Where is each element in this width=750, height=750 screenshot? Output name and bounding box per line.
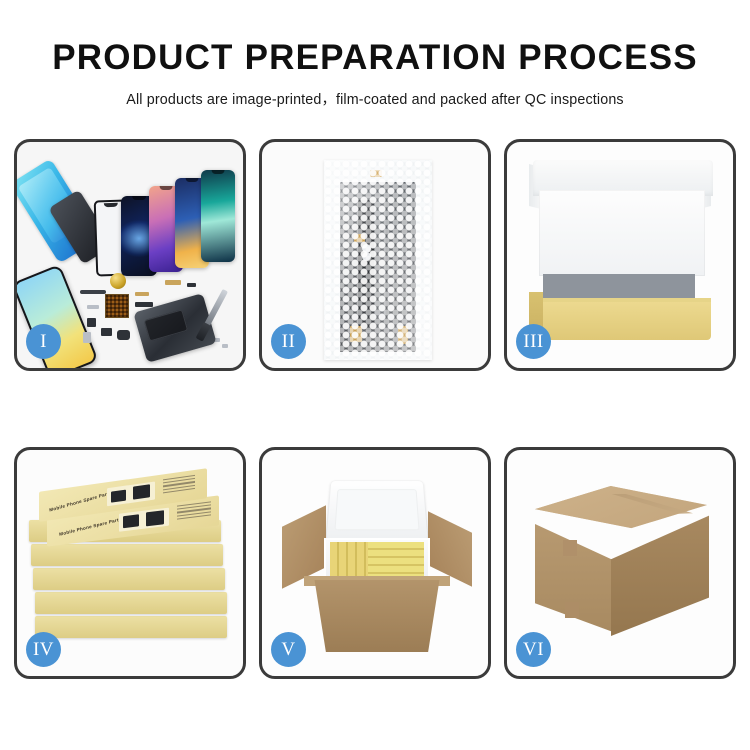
process-step-2: II [259,139,491,371]
spare-parts-icon [135,292,149,296]
page-title: PRODUCT PREPARATION PROCESS [0,40,750,77]
process-step-3: III [504,139,736,371]
process-step-grid: I II [14,139,736,679]
phone-screen-icon [201,170,235,262]
stacked-boxes-icon [35,616,227,638]
spare-parts-icon [80,290,106,294]
step-badge: IV [26,632,61,667]
step-badge: VI [516,632,551,667]
label-artwork [107,482,155,507]
header: PRODUCT PREPARATION PROCESS All products… [0,0,750,109]
label-spec-lines [163,475,195,495]
plastic-sheen [324,160,432,360]
spare-parts-icon [87,318,96,327]
spare-parts-icon [110,273,126,289]
process-step-5: V [259,447,491,679]
screwdriver-icon [204,289,228,327]
carton-open-icon [306,580,448,652]
label-spec-lines [177,501,211,521]
phone-thumbnail-icon [133,484,150,499]
page-subtitle: All products are image-printed，film-coat… [0,88,750,109]
process-step-4: Mobile Phone Spare Parts Mobile Phone Sp… [14,447,246,679]
box-label-text: Mobile Phone Spare Parts [49,490,112,512]
carton-side-right [611,508,709,636]
step-badge: I [26,324,61,359]
product-preparation-infographic: PRODUCT PREPARATION PROCESS All products… [0,0,750,750]
spare-parts-icon [165,280,181,285]
label-artwork [119,508,169,532]
spare-parts-icon [105,294,129,318]
foam-box-lid-icon [325,480,429,541]
phone-thumbnail-icon [111,490,126,503]
step-badge: II [271,324,306,359]
phone-thumbnail-icon [123,514,139,528]
phone-thumbnail-icon [146,510,164,526]
inner-boxes-icon [330,542,424,580]
spare-parts-icon [187,283,196,287]
bubble-wrap-icon [324,160,432,360]
spare-parts-icon [135,302,153,307]
spare-parts-icon [83,332,91,343]
tape-icon [563,540,577,556]
phone-screen-icon [14,264,99,371]
open-box-icon [529,302,711,340]
step-badge: III [516,324,551,359]
spare-parts-icon [117,330,130,340]
process-step-6: VI [504,447,736,679]
stacked-boxes-icon [31,544,223,566]
process-step-1: I [14,139,246,371]
spare-parts-icon [222,344,228,348]
box-label-text: Mobile Phone Spare Parts [59,517,122,537]
tape-icon [565,602,579,618]
stacked-boxes-icon [33,568,225,590]
spare-parts-icon [101,328,112,336]
spare-parts-icon [87,305,99,309]
foam-icon [539,190,705,276]
stacked-boxes-icon [35,592,227,614]
step-badge: V [271,632,306,667]
